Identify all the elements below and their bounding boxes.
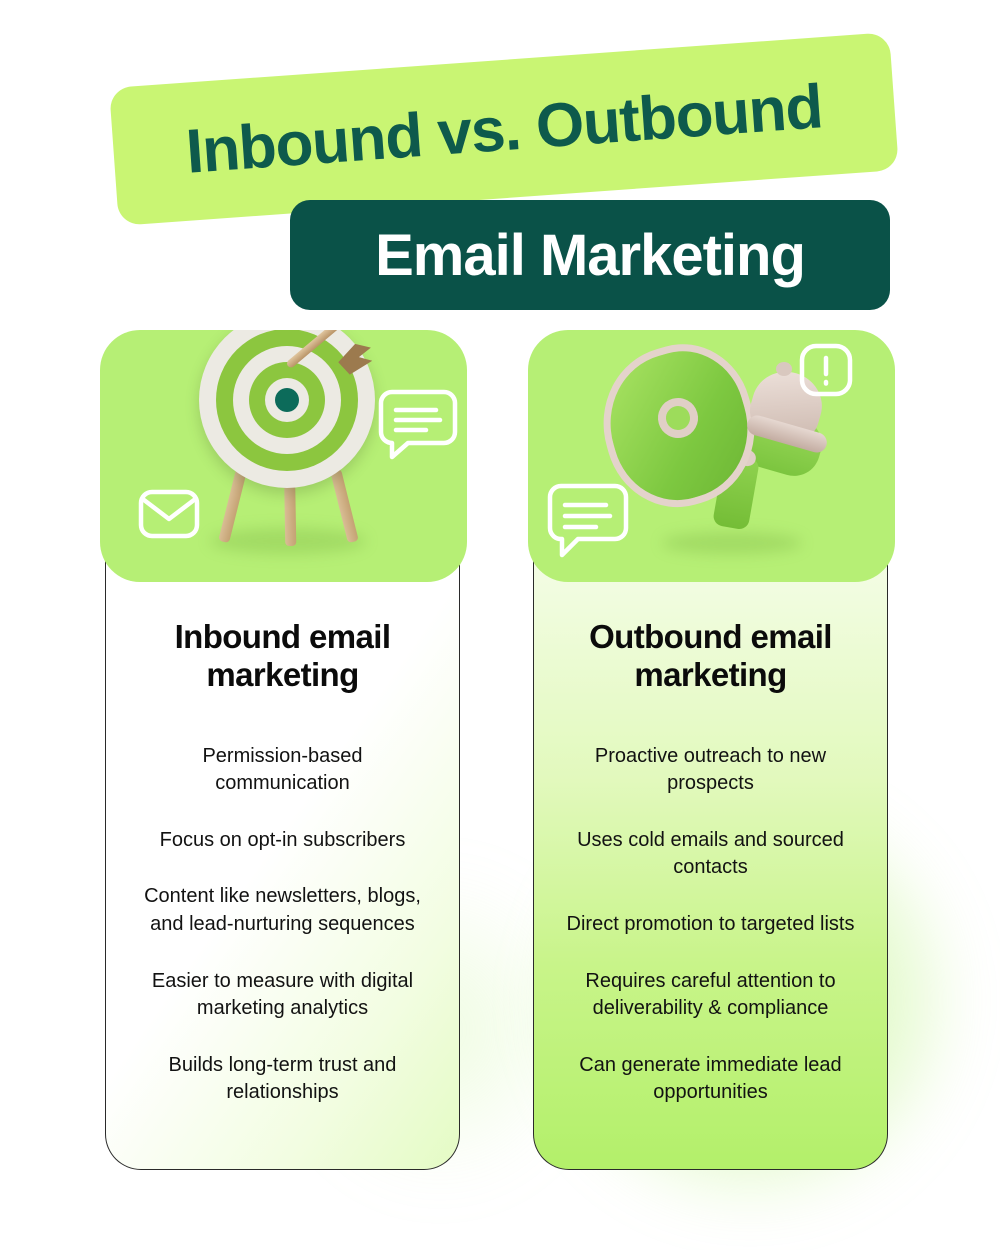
list-item: Focus on opt-in subscribers bbox=[160, 827, 406, 855]
chat-bubble-icon bbox=[378, 388, 458, 462]
title-block: Inbound vs. Outbound Email Marketing bbox=[0, 0, 1000, 330]
inbound-feature-list: Permission-based communication Focus on … bbox=[124, 743, 441, 1107]
list-item: Content like newsletters, blogs, and lea… bbox=[133, 883, 433, 938]
list-item: Builds long-term trust and relationships bbox=[133, 1052, 433, 1107]
outbound-card-heading: Outbound email marketing bbox=[561, 618, 861, 695]
inbound-card-body: Inbound email marketing Permission-based… bbox=[106, 538, 459, 1169]
exclamation-badge-icon bbox=[798, 342, 854, 398]
title-box: Email Marketing bbox=[290, 200, 890, 310]
title-banner: Inbound vs. Outbound bbox=[109, 32, 899, 226]
list-item: Direct promotion to targeted lists bbox=[567, 911, 855, 939]
outbound-card-body: Outbound email marketing Proactive outre… bbox=[534, 538, 887, 1169]
comparison-cards: Inbound email marketing Permission-based… bbox=[0, 330, 1000, 1170]
title-banner-text: Inbound vs. Outbound bbox=[109, 32, 899, 226]
list-item: Can generate immediate lead opportunitie… bbox=[561, 1052, 861, 1107]
list-item: Easier to measure with digital marketing… bbox=[133, 968, 433, 1023]
list-item: Permission-based communication bbox=[133, 743, 433, 798]
inbound-card-heading: Inbound email marketing bbox=[133, 618, 433, 695]
list-item: Requires careful attention to deliverabi… bbox=[561, 968, 861, 1023]
title-box-text: Email Marketing bbox=[375, 222, 805, 289]
card-outbound: Outbound email marketing Proactive outre… bbox=[533, 538, 888, 1170]
list-item: Uses cold emails and sourced contacts bbox=[561, 827, 861, 882]
list-item: Proactive outreach to new prospects bbox=[561, 743, 861, 798]
envelope-icon bbox=[138, 488, 200, 540]
outbound-feature-list: Proactive outreach to new prospects Uses… bbox=[552, 743, 869, 1107]
card-inbound: Inbound email marketing Permission-based… bbox=[105, 538, 460, 1170]
